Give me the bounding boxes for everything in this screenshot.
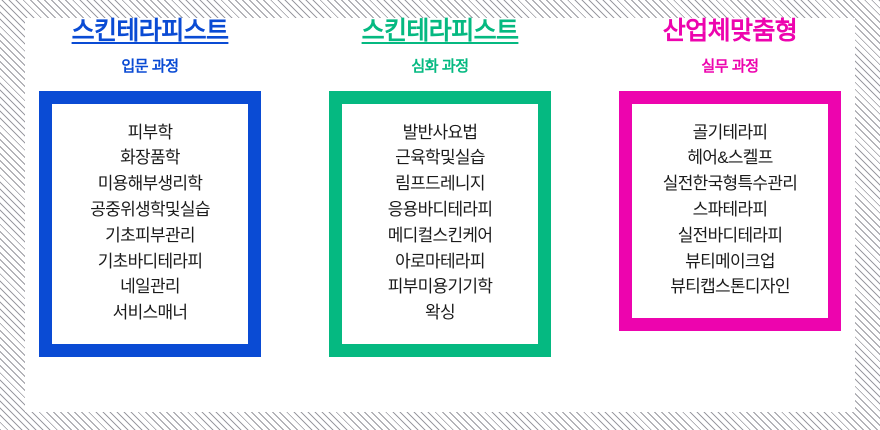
page-root: 스킨테라피스트 입문 과정 피부학화장품학미용해부생리학공중위생학및실습기초피부… bbox=[0, 0, 880, 430]
course-item: 골기테라피 bbox=[693, 120, 768, 146]
course-box-advanced: 발반사요법근육학및실습림프드레니지응용바디테라피메디컬스킨케어아로마테라피피부미… bbox=[329, 91, 551, 358]
course-item: 네일관리 bbox=[120, 274, 180, 300]
track-column-intro: 스킨테라피스트 입문 과정 피부학화장품학미용해부생리학공중위생학및실습기초피부… bbox=[25, 18, 275, 357]
course-item: 림프드레니지 bbox=[395, 171, 485, 197]
course-item: 미용해부생리학 bbox=[98, 171, 203, 197]
track-title-industry: 산업체맞춤형 bbox=[663, 18, 797, 46]
course-item: 스파테라피 bbox=[693, 197, 768, 223]
course-item: 뷰티캡스톤디자인 bbox=[670, 274, 790, 300]
track-title-intro: 스킨테라피스트 bbox=[72, 18, 229, 46]
track-column-advanced: 스킨테라피스트 심화 과정 발반사요법근육학및실습림프드레니지응용바디테라피메디… bbox=[315, 18, 565, 357]
course-box-intro: 피부학화장품학미용해부생리학공중위생학및실습기초피부관리기초바디테라피네일관리서… bbox=[39, 91, 261, 358]
track-column-industry: 산업체맞춤형 실무 과정 골기테라피헤어&스켈프실전한국형특수관리스파테라피실전… bbox=[605, 18, 855, 331]
track-subtitle-intro: 입문 과정 bbox=[121, 55, 178, 76]
course-item: 서비스매너 bbox=[113, 300, 188, 326]
course-item: 실전한국형특수관리 bbox=[663, 171, 797, 197]
course-item: 응용바디테라피 bbox=[388, 197, 493, 223]
track-subtitle-industry: 실무 과정 bbox=[701, 55, 758, 76]
course-item: 공중위생학및실습 bbox=[90, 197, 210, 223]
course-item: 아로마테라피 bbox=[395, 249, 485, 275]
course-item: 기초피부관리 bbox=[105, 223, 195, 249]
course-item: 실전바디테라피 bbox=[678, 223, 783, 249]
course-item: 피부학 bbox=[128, 120, 173, 146]
course-item: 기초바디테라피 bbox=[98, 249, 203, 275]
course-item: 근육학및실습 bbox=[395, 145, 485, 171]
track-subtitle-advanced: 심화 과정 bbox=[411, 55, 468, 76]
course-item: 발반사요법 bbox=[403, 120, 478, 146]
course-item: 메디컬스킨케어 bbox=[388, 223, 493, 249]
course-box-industry: 골기테라피헤어&스켈프실전한국형특수관리스파테라피실전바디테라피뷰티메이크업뷰티… bbox=[619, 91, 841, 332]
course-item: 화장품학 bbox=[120, 145, 180, 171]
course-item: 헤어&스켈프 bbox=[687, 145, 772, 171]
track-columns: 스킨테라피스트 입문 과정 피부학화장품학미용해부생리학공중위생학및실습기초피부… bbox=[25, 18, 855, 412]
course-item: 왁싱 bbox=[425, 300, 455, 326]
content-card: 스킨테라피스트 입문 과정 피부학화장품학미용해부생리학공중위생학및실습기초피부… bbox=[25, 18, 855, 412]
course-item: 뷰티메이크업 bbox=[685, 249, 775, 275]
track-title-advanced: 스킨테라피스트 bbox=[362, 18, 519, 46]
course-item: 피부미용기기학 bbox=[388, 274, 493, 300]
